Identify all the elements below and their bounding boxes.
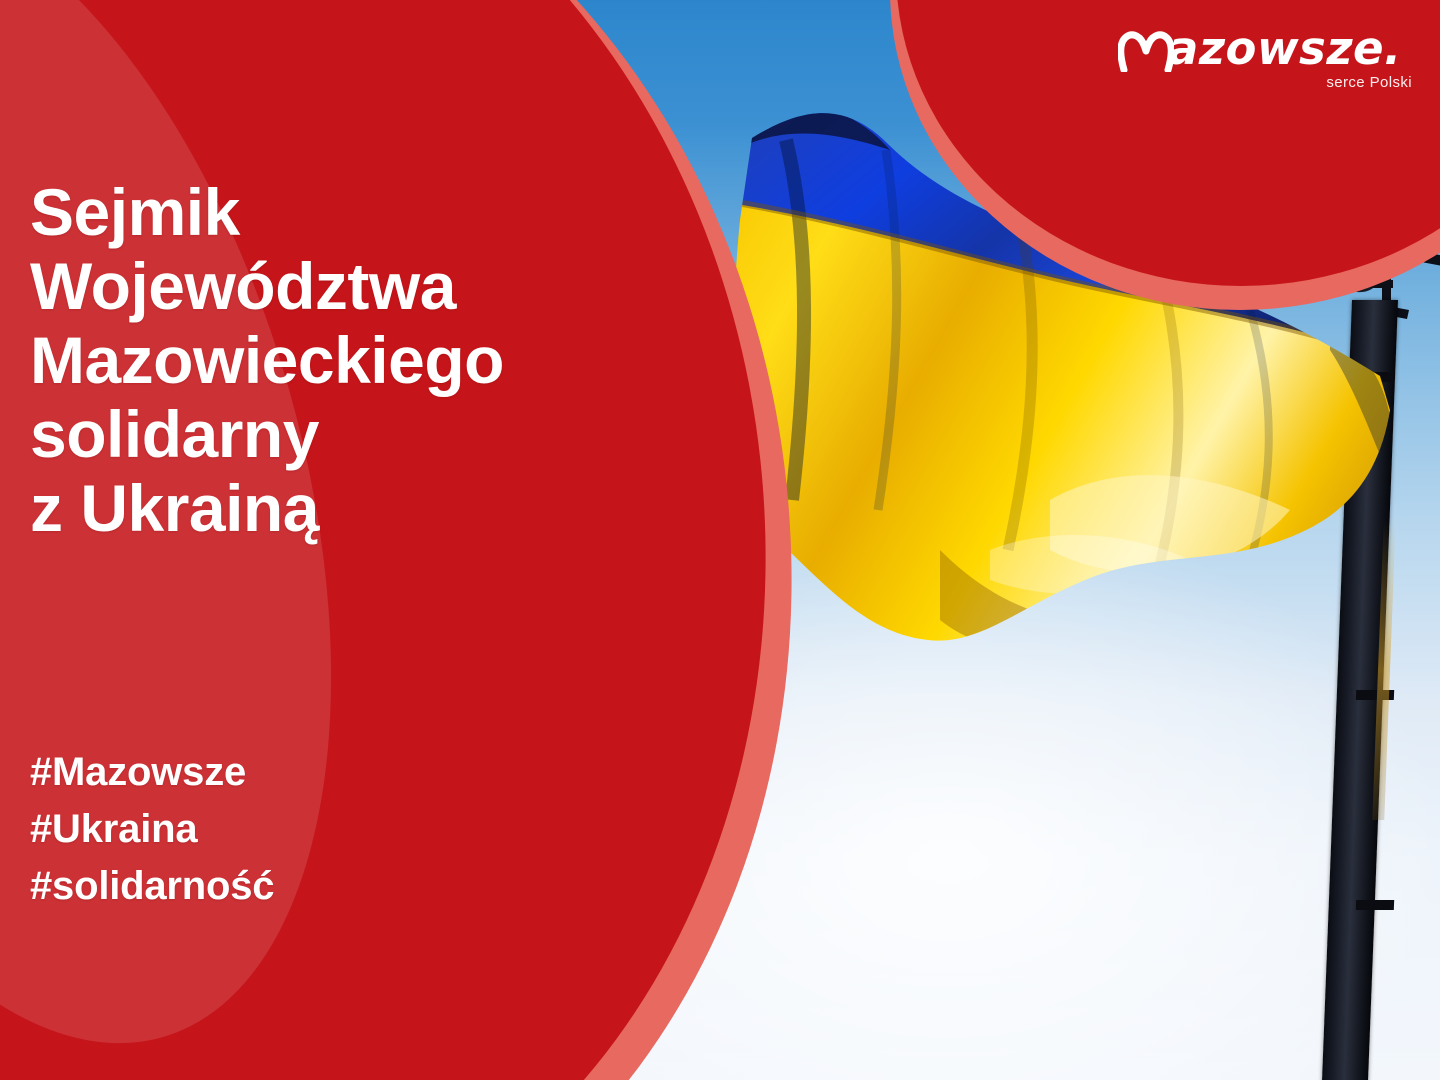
headline-line-3: Mazowieckiego	[30, 324, 630, 398]
headline-line-5: z Ukrainą	[30, 472, 630, 546]
hashtag-ukraina: #Ukraina	[30, 801, 274, 858]
poster-canvas: Sejmik Województwa Mazowieckiego solidar…	[0, 0, 1440, 1080]
mazowsze-logo: azowsze. serce Polski	[1118, 22, 1418, 100]
logo-wordmark: azowsze.	[1168, 22, 1402, 75]
headline: Sejmik Województwa Mazowieckiego solidar…	[30, 176, 630, 546]
heart-m-icon	[1118, 30, 1174, 72]
hashtag-solidarnosc: #solidarność	[30, 858, 274, 915]
hashtag-mazowsze: #Mazowsze	[30, 744, 274, 801]
headline-line-2: Województwa	[30, 250, 630, 324]
logo-tagline: serce Polski	[1326, 74, 1412, 91]
mast-segment	[1356, 900, 1394, 910]
headline-line-1: Sejmik	[30, 176, 630, 250]
headline-line-4: solidarny	[30, 398, 630, 472]
hashtag-list: #Mazowsze #Ukraina #solidarność	[30, 744, 274, 914]
